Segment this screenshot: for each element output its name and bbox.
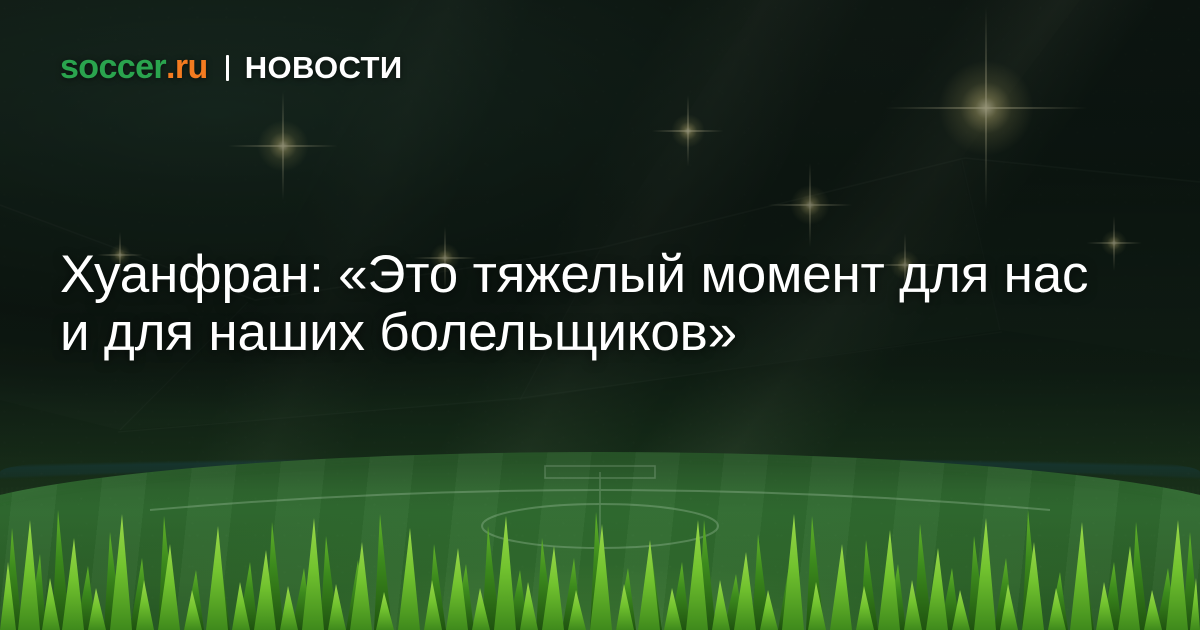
logo-text-soccer: soccer [60, 48, 166, 87]
foreground-grass [0, 470, 1200, 630]
news-share-card: soccer.ru НОВОСТИ Хуанфран: «Это тяжелый… [0, 0, 1200, 630]
site-logo[interactable]: soccer.ru НОВОСТИ [60, 48, 403, 87]
page-title: Хуанфран: «Это тяжелый момент для нас и … [60, 246, 1120, 362]
logo-separator [226, 55, 229, 81]
section-label-news: НОВОСТИ [245, 50, 403, 86]
logo-text-ru: .ru [166, 48, 208, 87]
